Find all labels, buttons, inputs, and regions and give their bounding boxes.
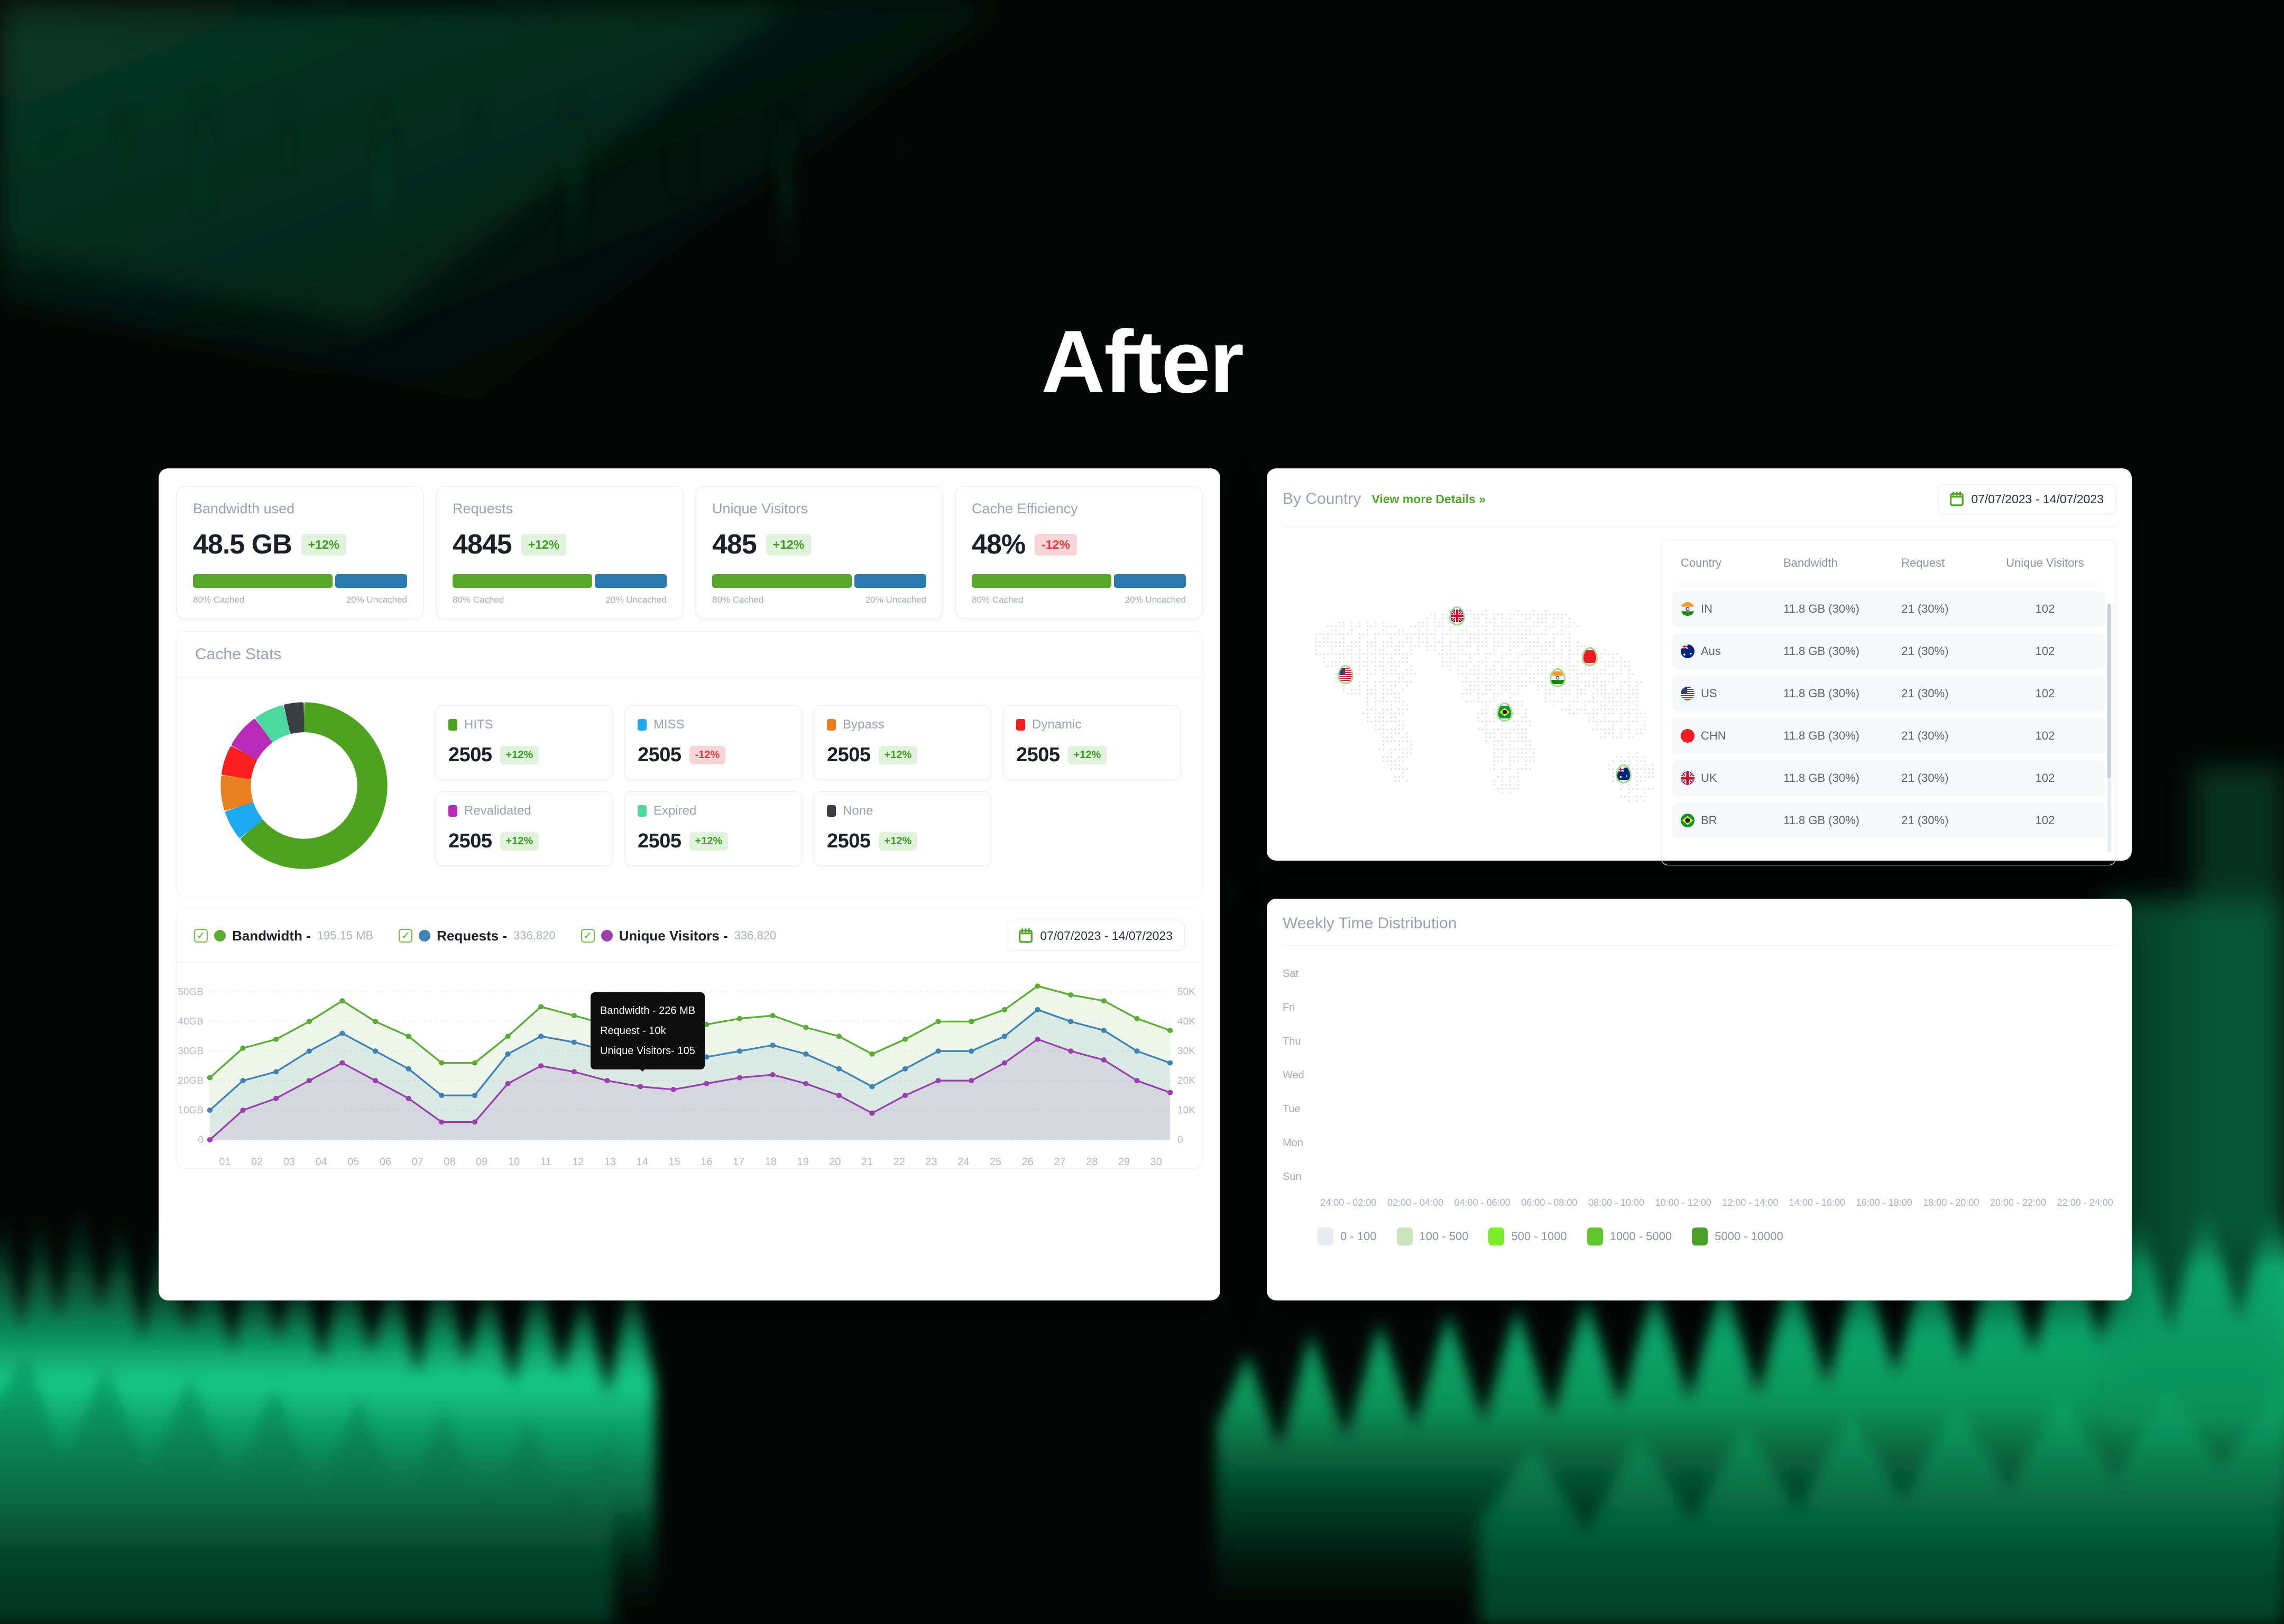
visitors-cell: 102: [1994, 602, 2096, 616]
series-point[interactable]: [770, 1013, 775, 1018]
heatmap-legend-item: 0 - 100: [1318, 1228, 1377, 1245]
country-table-header: CountryBandwidthRequestUnique Visitors: [1672, 550, 2105, 584]
heatmap-legend-label: 5000 - 10000: [1715, 1230, 1783, 1243]
visitors-cell: 102: [1994, 729, 2096, 743]
series-point[interactable]: [538, 1034, 544, 1039]
cache-metric-label: HITS: [464, 717, 493, 732]
series-checkbox[interactable]: ✓: [194, 929, 208, 943]
cache-metric-delta: +12%: [500, 746, 539, 764]
series-point[interactable]: [373, 1048, 378, 1054]
cache-metric-value-row: 2505+12%: [638, 830, 789, 853]
heatmap-legend-item: 500 - 1000: [1488, 1228, 1567, 1245]
series-name: Unique Visitors -: [619, 928, 728, 944]
series-point[interactable]: [935, 1078, 941, 1083]
y-tick-right: 30K: [1177, 1045, 1195, 1056]
series-point[interactable]: [1002, 1007, 1007, 1012]
x-tick: 06: [370, 1156, 402, 1168]
series-point[interactable]: [273, 1069, 279, 1074]
cache-metric-head: MISS: [638, 717, 789, 732]
cache-metric-card: MISS2505-12%: [624, 705, 802, 780]
series-legend-item[interactable]: ✓Unique Visitors -336,820: [581, 928, 777, 944]
y-tick-right: 40K: [1177, 1016, 1195, 1027]
cache-color-swatch: [638, 719, 647, 731]
series-point[interactable]: [1002, 1034, 1007, 1039]
series-point[interactable]: [472, 1119, 477, 1124]
kpi-row: Bandwidth used48.5 GB+12%80% Cached20% U…: [177, 486, 1202, 619]
heatmap-row-label: Sat: [1283, 968, 1318, 980]
x-tick: 30: [1140, 1156, 1172, 1168]
series-point[interactable]: [339, 1031, 345, 1036]
series-point[interactable]: [902, 1037, 908, 1042]
series-point[interactable]: [572, 1039, 577, 1045]
cache-metric-delta: -12%: [689, 746, 726, 764]
cache-color-swatch: [638, 805, 647, 817]
series-point[interactable]: [439, 1093, 444, 1098]
x-tick: 17: [723, 1156, 755, 1168]
series-point[interactable]: [770, 1042, 775, 1048]
kpi-bar-legend: 80% Cached20% Uncached: [712, 595, 926, 605]
series-point[interactable]: [935, 1048, 941, 1054]
table-row[interactable]: UK11.8 GB (30%)21 (30%)102: [1672, 761, 2105, 796]
cache-metric-head: Expired: [638, 804, 789, 818]
cache-stats-card: Cache Stats HITS2505+12%MISS2505-12%Bypa…: [177, 631, 1202, 897]
heatmap-legend: 0 - 100100 - 500500 - 10001000 - 5000500…: [1318, 1228, 2116, 1245]
x-tick: 19: [787, 1156, 819, 1168]
x-tick: 08: [434, 1156, 466, 1168]
view-more-details-link[interactable]: View more Details »: [1371, 492, 1486, 506]
series-point[interactable]: [1068, 992, 1073, 998]
country-cell: Aus: [1681, 644, 1783, 658]
series-point[interactable]: [572, 1013, 577, 1018]
traffic-line-chart-card: ✓Bandwidth -195.15 MB✓Requests -336,820✓…: [177, 909, 1202, 1169]
tooltip-request: Request - 10k: [600, 1021, 695, 1041]
series-point[interactable]: [240, 1078, 245, 1083]
cache-metric-label: None: [843, 804, 873, 818]
series-point[interactable]: [1002, 1060, 1007, 1066]
kpi-bar-uncached: [595, 574, 667, 588]
kpi-uncached-label: 20% Uncached: [1125, 595, 1186, 605]
cache-metric-value: 2505: [1016, 744, 1060, 767]
map-pin-br[interactable]: [1497, 703, 1513, 722]
heatmap-x-tick: 18:00 - 20:00: [1920, 1197, 1982, 1208]
world-map: [1283, 540, 1661, 865]
series-point[interactable]: [240, 1108, 245, 1113]
y-tick-left: 30GB: [178, 1045, 204, 1056]
kpi-bar-legend: 80% Cached20% Uncached: [453, 595, 667, 605]
cache-metric-value: 2505: [448, 830, 492, 853]
series-checkbox[interactable]: ✓: [581, 929, 595, 943]
heatmap-x-tick: 08:00 - 10:00: [1586, 1197, 1647, 1208]
series-color-dot: [214, 930, 226, 942]
kpi-card: Cache Efficiency48%-12%80% Cached20% Unc…: [955, 486, 1202, 619]
chart-tooltip: Bandwidth - 226 MB Request - 10k Unique …: [591, 992, 705, 1069]
series-point[interactable]: [836, 1093, 842, 1098]
x-tick: 12: [562, 1156, 594, 1168]
heatmap-row: Mon: [1283, 1129, 2116, 1157]
map-pin-aus[interactable]: [1616, 764, 1632, 783]
series-point[interactable]: [538, 1063, 544, 1068]
series-point[interactable]: [969, 1078, 974, 1083]
heatmap-row: Tue: [1283, 1095, 2116, 1123]
map-pin-us[interactable]: [1338, 665, 1353, 684]
country-cell: US: [1681, 687, 1783, 700]
bandwidth-cell: 11.8 GB (30%): [1783, 602, 1901, 616]
series-point[interactable]: [969, 1019, 974, 1024]
country-code: US: [1701, 687, 1717, 700]
series-point[interactable]: [935, 1019, 941, 1024]
series-point[interactable]: [505, 1081, 510, 1086]
left-dashboard-panel: Bandwidth used48.5 GB+12%80% Cached20% U…: [159, 468, 1220, 1300]
series-point[interactable]: [339, 1060, 345, 1066]
heatmap-legend-swatch: [1397, 1228, 1413, 1245]
series-name: Requests -: [437, 928, 507, 944]
cache-color-swatch: [827, 719, 836, 731]
series-point[interactable]: [373, 1078, 378, 1083]
cache-metric-label: Expired: [653, 804, 696, 818]
bandwidth-cell: 11.8 GB (30%): [1783, 644, 1901, 658]
cache-metric-value-row: 2505+12%: [1016, 744, 1167, 767]
series-total: 336,820: [734, 929, 777, 943]
heatmap-legend-item: 5000 - 10000: [1692, 1228, 1783, 1245]
series-point[interactable]: [737, 1075, 742, 1081]
series-point[interactable]: [1167, 1060, 1173, 1066]
heatmap-legend-label: 100 - 500: [1420, 1230, 1469, 1243]
series-point[interactable]: [836, 1066, 842, 1072]
heatmap-row-label: Fri: [1283, 1002, 1318, 1014]
heatmap-legend-swatch: [1692, 1228, 1708, 1245]
cache-metric-value: 2505: [827, 744, 871, 767]
series-point[interactable]: [307, 1078, 312, 1083]
kpi-value: 4845: [453, 531, 512, 558]
table-row[interactable]: CHN11.8 GB (30%)21 (30%)102: [1672, 718, 2105, 753]
series-point[interactable]: [902, 1066, 908, 1072]
series-point[interactable]: [902, 1093, 908, 1098]
heatmap-legend-item: 1000 - 5000: [1587, 1228, 1672, 1245]
map-pin-uk[interactable]: [1449, 606, 1465, 625]
cache-metric-label: MISS: [653, 717, 685, 732]
cache-metric-card: Revalidated2505+12%: [435, 791, 613, 866]
kpi-card: Requests4845+12%80% Cached20% Uncached: [436, 486, 683, 619]
kpi-label: Requests: [453, 501, 667, 517]
y-tick-right: 20K: [1177, 1075, 1195, 1086]
kpi-value-row: 48%-12%: [972, 531, 1186, 558]
series-point[interactable]: [373, 1019, 378, 1024]
kpi-value: 48%: [972, 531, 1025, 558]
country-column-header: Bandwidth: [1783, 556, 1901, 570]
series-point[interactable]: [770, 1072, 775, 1077]
cache-metric-delta: +12%: [1068, 746, 1107, 764]
series-point[interactable]: [406, 1034, 411, 1039]
series-point[interactable]: [1035, 983, 1040, 989]
series-point[interactable]: [803, 1051, 808, 1057]
cache-color-swatch: [448, 805, 457, 817]
map-pin-in[interactable]: [1550, 668, 1565, 687]
request-cell: 21 (30%): [1901, 729, 1994, 743]
heatmap-legend-swatch: [1318, 1228, 1333, 1245]
series-point[interactable]: [869, 1111, 874, 1116]
cache-metric-label: Dynamic: [1032, 717, 1081, 732]
cache-metric-value: 2505: [448, 744, 492, 767]
series-point[interactable]: [472, 1060, 477, 1066]
cache-color-swatch: [827, 805, 836, 817]
series-point[interactable]: [406, 1096, 411, 1101]
country-code: CHN: [1701, 729, 1726, 743]
country-column-header: Request: [1901, 556, 1994, 570]
request-cell: 21 (30%): [1901, 687, 1994, 700]
kpi-cached-label: 80% Cached: [193, 595, 244, 605]
y-tick-right: 10K: [1177, 1104, 1195, 1115]
country-cell: BR: [1681, 814, 1783, 827]
series-point[interactable]: [969, 1048, 974, 1054]
table-row[interactable]: BR11.8 GB (30%)21 (30%)102: [1672, 803, 2105, 838]
heatmap-x-tick: 06:00 - 08:00: [1518, 1197, 1580, 1208]
cache-metric-value-row: 2505+12%: [827, 744, 978, 767]
kpi-label: Cache Efficiency: [972, 501, 1186, 517]
series-point[interactable]: [803, 1025, 808, 1030]
heatmap-x-tick: 12:00 - 14:00: [1719, 1197, 1781, 1208]
x-tick: 01: [209, 1156, 241, 1168]
heatmap-x-tick: 14:00 - 16:00: [1786, 1197, 1848, 1208]
cache-metric-head: Dynamic: [1016, 717, 1167, 732]
kpi-delta-badge: +12%: [521, 534, 566, 556]
series-color-dot: [601, 930, 613, 942]
series-point[interactable]: [1035, 1007, 1040, 1012]
series-point[interactable]: [1134, 1078, 1139, 1083]
series-point[interactable]: [1134, 1016, 1139, 1021]
page-title: After: [0, 311, 2284, 413]
cache-metric-head: Revalidated: [448, 804, 600, 818]
series-point[interactable]: [572, 1069, 577, 1074]
heatmap-legend-label: 1000 - 5000: [1610, 1230, 1672, 1243]
series-point[interactable]: [1167, 1028, 1173, 1033]
heatmap-x-axis: 24:00 - 02:0002:00 - 04:0004:00 - 06:000…: [1318, 1197, 2116, 1208]
x-tick: 25: [980, 1156, 1012, 1168]
kpi-progress-bar: [712, 574, 926, 588]
y-tick-left: 50GB: [178, 986, 204, 998]
kpi-card: Bandwidth used48.5 GB+12%80% Cached20% U…: [177, 486, 423, 619]
flag-icon: [1681, 644, 1694, 658]
heatmap-body: SatFriThuWedTueMonSun 24:00 - 02:0002:00…: [1283, 946, 2116, 1245]
series-point[interactable]: [1101, 1057, 1107, 1063]
country-table: CountryBandwidthRequestUnique Visitors I…: [1661, 540, 2116, 865]
x-tick: 20: [819, 1156, 851, 1168]
kpi-uncached-label: 20% Uncached: [865, 595, 926, 605]
series-point[interactable]: [207, 1137, 213, 1142]
series-name: Bandwidth -: [232, 928, 311, 944]
calendar-icon: [1950, 492, 1964, 506]
chart-date-range-value: 07/07/2023 - 14/07/2023: [1040, 929, 1173, 943]
series-point[interactable]: [439, 1060, 444, 1066]
bandwidth-cell: 11.8 GB (30%): [1783, 729, 1901, 743]
series-point[interactable]: [538, 1004, 544, 1009]
series-point[interactable]: [670, 1087, 676, 1092]
kpi-progress-bar: [972, 574, 1186, 588]
heatmap-legend-label: 0 - 100: [1340, 1230, 1377, 1243]
country-code: IN: [1701, 602, 1712, 616]
heatmap-row: Sat: [1283, 959, 2116, 988]
x-tick: 15: [658, 1156, 690, 1168]
cache-metric-grid: HITS2505+12%MISS2505-12%Bypass2505+12%Dy…: [435, 705, 1181, 866]
tooltip-bandwidth: Bandwidth - 226 MB: [600, 1001, 695, 1021]
heatmap-row: Thu: [1283, 1027, 2116, 1056]
x-tick: 21: [851, 1156, 883, 1168]
series-point[interactable]: [207, 1108, 213, 1113]
series-point[interactable]: [869, 1084, 874, 1089]
heatmap-grid: SatFriThuWedTueMonSun: [1283, 959, 2116, 1191]
heatmap-legend-item: 100 - 500: [1397, 1228, 1469, 1245]
cache-metric-card: Bypass2505+12%: [814, 705, 991, 780]
cache-metric-delta: +12%: [500, 832, 539, 851]
x-tick: 16: [690, 1156, 723, 1168]
bandwidth-cell: 11.8 GB (30%): [1783, 687, 1901, 700]
country-column-header: Country: [1681, 556, 1783, 570]
map-pin-chn[interactable]: [1582, 647, 1598, 666]
kpi-label: Bandwidth used: [193, 501, 407, 517]
by-country-panel: By Country View more Details » 07/07/202…: [1267, 468, 2132, 861]
request-cell: 21 (30%): [1901, 771, 1994, 785]
cache-metric-head: HITS: [448, 717, 600, 732]
heatmap-row-label: Mon: [1283, 1137, 1318, 1149]
series-point[interactable]: [638, 1084, 643, 1089]
series-point[interactable]: [803, 1081, 808, 1086]
series-point[interactable]: [406, 1066, 411, 1072]
weekly-time-distribution-panel: Weekly Time Distribution SatFriThuWedTue…: [1267, 899, 2132, 1300]
x-tick: 05: [337, 1156, 370, 1168]
cache-metric-value-row: 2505+12%: [448, 830, 600, 853]
series-point[interactable]: [307, 1019, 312, 1024]
x-tick: 14: [627, 1156, 659, 1168]
tooltip-visitors: Unique Visitors- 105: [600, 1041, 695, 1061]
x-tick: 24: [947, 1156, 980, 1168]
calendar-icon: [1019, 928, 1033, 943]
country-cell: IN: [1681, 602, 1783, 616]
table-row[interactable]: Aus11.8 GB (30%)21 (30%)102: [1672, 634, 2105, 669]
heatmap-x-tick: 16:00 - 18:00: [1853, 1197, 1915, 1208]
x-tick: 18: [754, 1156, 787, 1168]
cache-metric-card: Expired2505+12%: [624, 791, 802, 866]
series-point[interactable]: [1035, 1037, 1040, 1042]
kpi-delta-badge: -12%: [1035, 534, 1077, 556]
kpi-uncached-label: 20% Uncached: [346, 595, 407, 605]
cache-donut-chart: [198, 696, 410, 875]
bandwidth-cell: 11.8 GB (30%): [1783, 814, 1901, 827]
series-point[interactable]: [704, 1081, 709, 1086]
cache-metric-value: 2505: [827, 830, 871, 853]
country-table-scrollbar[interactable]: [2107, 604, 2111, 852]
series-point[interactable]: [339, 998, 345, 1003]
weekly-header: Weekly Time Distribution: [1283, 915, 2116, 946]
heatmap-legend-swatch: [1587, 1228, 1603, 1245]
country-table-rows: IN11.8 GB (30%)21 (30%)102Aus11.8 GB (30…: [1672, 592, 2105, 838]
kpi-bar-legend: 80% Cached20% Uncached: [193, 595, 407, 605]
y-tick-right: 50K: [1177, 986, 1195, 998]
y-tick-left: 20GB: [178, 1075, 204, 1086]
series-legend-item[interactable]: ✓Bandwidth -195.15 MB: [194, 928, 373, 944]
line-chart-plot: 010GB20GB30GB40GB50GB 010K20K30K40K50K B…: [177, 963, 1202, 1153]
country-date-range-picker[interactable]: 07/07/2023 - 14/07/2023: [1938, 484, 2116, 514]
cache-metric-value-row: 2505+12%: [448, 744, 600, 767]
world-map-dots: [1283, 540, 1661, 865]
series-point[interactable]: [505, 1051, 510, 1057]
heatmap-row-label: Thu: [1283, 1036, 1318, 1048]
cache-metric-head: None: [827, 804, 978, 818]
y-tick-left: 10GB: [178, 1104, 204, 1115]
series-point[interactable]: [1101, 998, 1107, 1003]
series-point[interactable]: [1134, 1048, 1139, 1054]
kpi-value: 485: [712, 531, 757, 558]
series-checkbox[interactable]: ✓: [399, 929, 412, 943]
series-point[interactable]: [604, 1078, 610, 1083]
country-column-header: Unique Visitors: [1994, 556, 2096, 570]
kpi-bar-uncached: [335, 574, 407, 588]
cache-metric-label: Revalidated: [464, 804, 531, 818]
x-tick: 29: [1108, 1156, 1140, 1168]
series-point[interactable]: [1101, 1028, 1107, 1033]
series-point[interactable]: [1068, 1048, 1073, 1054]
series-legend-item[interactable]: ✓Requests -336,820: [399, 928, 555, 944]
heatmap-x-tick: 20:00 - 22:00: [1987, 1197, 2049, 1208]
series-total: 195.15 MB: [317, 929, 373, 943]
series-color-dot: [419, 930, 430, 942]
kpi-value: 48.5 GB: [193, 531, 292, 558]
country-cell: UK: [1681, 771, 1783, 785]
kpi-label: Unique Visitors: [712, 501, 926, 517]
x-tick: 27: [1044, 1156, 1076, 1168]
kpi-value-row: 48.5 GB+12%: [193, 531, 407, 558]
heatmap-row-label: Sun: [1283, 1171, 1318, 1183]
series-point[interactable]: [836, 1034, 842, 1039]
series-point[interactable]: [240, 1046, 245, 1051]
heatmap-x-tick: 10:00 - 12:00: [1652, 1197, 1714, 1208]
chart-date-range-picker[interactable]: 07/07/2023 - 14/07/2023: [1007, 921, 1185, 951]
kpi-card: Unique Visitors485+12%80% Cached20% Unca…: [696, 486, 943, 619]
kpi-bar-legend: 80% Cached20% Uncached: [972, 595, 1186, 605]
donut-svg: [214, 696, 394, 875]
series-point[interactable]: [505, 1034, 510, 1039]
series-point[interactable]: [207, 1075, 213, 1081]
x-tick: 10: [498, 1156, 530, 1168]
series-point[interactable]: [307, 1048, 312, 1054]
series-point[interactable]: [1167, 1090, 1173, 1095]
series-point[interactable]: [737, 1048, 742, 1054]
table-row[interactable]: US11.8 GB (30%)21 (30%)102: [1672, 676, 2105, 711]
x-tick: 09: [466, 1156, 498, 1168]
request-cell: 21 (30%): [1901, 602, 1994, 616]
cache-metric-delta: +12%: [879, 832, 918, 851]
flag-icon: [1681, 771, 1694, 785]
series-point[interactable]: [737, 1016, 742, 1021]
x-tick: 13: [594, 1156, 627, 1168]
cache-metric-card: HITS2505+12%: [435, 705, 613, 780]
bandwidth-cell: 11.8 GB (30%): [1783, 771, 1901, 785]
series-point[interactable]: [472, 1093, 477, 1098]
heatmap-row-label: Wed: [1283, 1069, 1318, 1082]
x-tick: 03: [273, 1156, 305, 1168]
heatmap-row: Sun: [1283, 1162, 2116, 1191]
country-code: Aus: [1701, 644, 1721, 658]
series-point[interactable]: [869, 1051, 874, 1057]
heatmap-x-tick: 22:00 - 24:00: [2054, 1197, 2116, 1208]
table-row[interactable]: IN11.8 GB (30%)21 (30%)102: [1672, 592, 2105, 626]
series-point[interactable]: [273, 1037, 279, 1042]
cache-metric-value: 2505: [638, 744, 681, 767]
series-point[interactable]: [439, 1119, 444, 1124]
request-cell: 21 (30%): [1901, 814, 1994, 827]
series-point[interactable]: [273, 1096, 279, 1101]
series-point[interactable]: [1068, 1019, 1073, 1024]
country-cell: CHN: [1681, 729, 1783, 743]
kpi-bar-uncached: [854, 574, 926, 588]
